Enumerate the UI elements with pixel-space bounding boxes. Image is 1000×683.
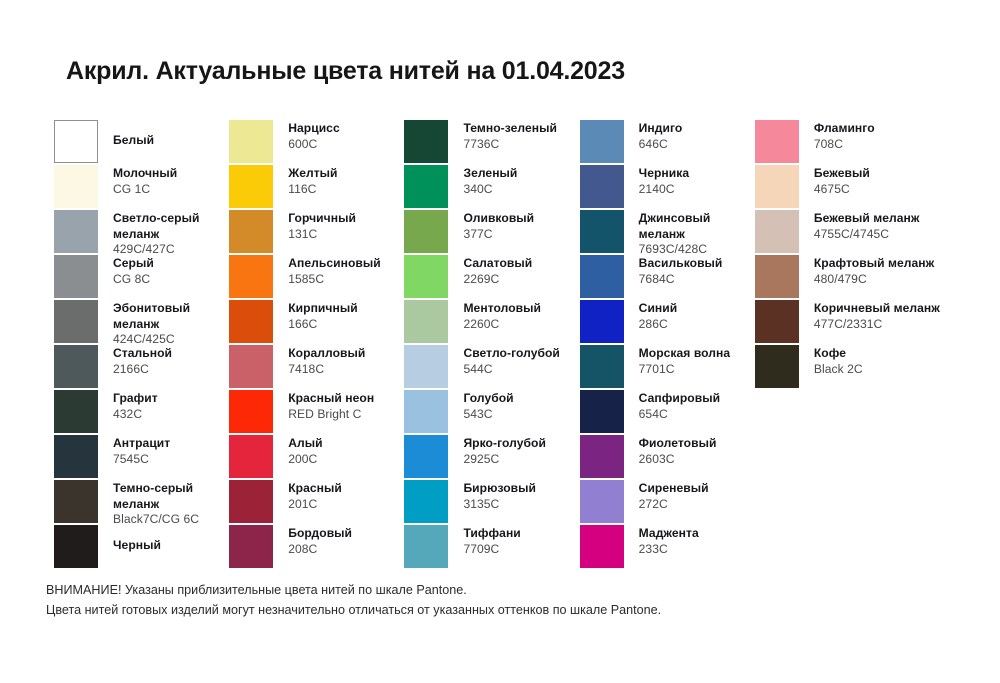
color-name: Бордовый (288, 526, 404, 542)
pantone-code: 1585C (288, 272, 404, 288)
swatch-labels: Белый (113, 120, 229, 149)
swatch-labels: Голубой543C (463, 390, 579, 422)
color-swatch[interactable] (755, 210, 799, 253)
color-name: Бежевый (814, 166, 954, 182)
color-name: Морская волна (639, 346, 755, 362)
swatch-row[interactable]: Антрацит7545C (54, 435, 229, 480)
swatch-labels: Апельсиновый1585C (288, 255, 404, 287)
swatch-row[interactable]: Бордовый208C (229, 525, 404, 570)
pantone-code: 7545C (113, 452, 229, 468)
color-name: Светло-серый меланж (113, 211, 229, 242)
swatch-labels: Фламинго708C (814, 120, 954, 152)
color-name: Светло-голубой (463, 346, 579, 362)
swatch-row[interactable]: Васильковый7684C (580, 255, 755, 300)
color-name: Серый (113, 256, 229, 272)
color-swatch[interactable] (580, 300, 624, 343)
swatch-labels: Оливковый377C (463, 210, 579, 242)
pantone-code: 200C (288, 452, 404, 468)
column-warm: Нарцисс600CЖелтый116CГорчичный131CАпельс… (229, 120, 404, 570)
swatch-row[interactable]: Желтый116C (229, 165, 404, 210)
swatch-labels: МолочныйCG 1C (113, 165, 229, 197)
swatch-row[interactable]: Черника2140C (580, 165, 755, 210)
color-swatch[interactable] (404, 255, 448, 298)
swatch-row[interactable]: СерыйCG 8C (54, 255, 229, 300)
color-swatch[interactable] (54, 525, 98, 568)
color-name: Красный (288, 481, 404, 497)
color-swatch[interactable] (404, 165, 448, 208)
swatch-labels: КофеBlack 2C (814, 345, 954, 377)
footer-line-1: ВНИМАНИЕ! Указаны приблизительные цвета … (46, 580, 661, 600)
swatch-labels: Алый200C (288, 435, 404, 467)
pantone-code: 201C (288, 497, 404, 513)
pantone-code: 7709C (463, 542, 579, 558)
color-swatch[interactable] (580, 255, 624, 298)
column-blues-purples: Индиго646CЧерника2140CДжинсовый меланж76… (580, 120, 755, 570)
swatch-row[interactable]: Бирюзовый3135C (404, 480, 579, 525)
swatch-row[interactable]: Ментоловый2260C (404, 300, 579, 345)
color-name: Нарцисс (288, 121, 404, 137)
swatch-labels: Кирпичный166C (288, 300, 404, 332)
swatch-row[interactable]: Оливковый377C (404, 210, 579, 255)
color-swatch[interactable] (54, 255, 98, 298)
swatch-labels: Индиго646C (639, 120, 755, 152)
swatch-labels: Ментоловый2260C (463, 300, 579, 332)
color-name: Темно-серый меланж (113, 481, 229, 512)
swatch-labels: Коралловый7418C (288, 345, 404, 377)
pantone-code: 2166C (113, 362, 229, 378)
pantone-code: 2140C (639, 182, 755, 198)
pantone-code: 208C (288, 542, 404, 558)
swatch-row[interactable]: Алый200C (229, 435, 404, 480)
color-swatch[interactable] (54, 390, 98, 433)
color-swatch[interactable] (229, 300, 273, 343)
swatch-labels: Черный (113, 525, 229, 554)
pantone-code: 377C (463, 227, 579, 243)
swatch-row[interactable]: МолочныйCG 1C (54, 165, 229, 210)
swatch-labels: Графит432C (113, 390, 229, 422)
swatch-row[interactable]: Индиго646C (580, 120, 755, 165)
pantone-code: 3135C (463, 497, 579, 513)
color-name: Апельсиновый (288, 256, 404, 272)
footer-note: ВНИМАНИЕ! Указаны приблизительные цвета … (46, 580, 661, 620)
color-swatch[interactable] (580, 390, 624, 433)
color-swatch[interactable] (229, 345, 273, 388)
color-name: Антрацит (113, 436, 229, 452)
color-name: Эбонитовый меланж (113, 301, 229, 332)
color-name: Горчичный (288, 211, 404, 227)
swatch-labels: Стальной2166C (113, 345, 229, 377)
pantone-code: 272C (639, 497, 755, 513)
swatch-labels: Бирюзовый3135C (463, 480, 579, 512)
swatch-labels: Васильковый7684C (639, 255, 755, 287)
color-name: Коралловый (288, 346, 404, 362)
color-name: Крафтовый меланж (814, 256, 954, 272)
swatch-row[interactable]: Морская волна7701C (580, 345, 755, 390)
color-swatch[interactable] (54, 210, 98, 253)
color-name: Салатовый (463, 256, 579, 272)
pantone-code: 233C (639, 542, 755, 558)
color-swatch[interactable] (404, 480, 448, 523)
pantone-code: RED Bright C (288, 407, 404, 423)
pantone-code: 2925C (463, 452, 579, 468)
color-swatch[interactable] (580, 165, 624, 208)
pantone-code: 543C (463, 407, 579, 423)
swatch-labels: Темно-зеленый7736C (463, 120, 579, 152)
swatch-labels: Бежевый меланж4755C/4745C (814, 210, 954, 242)
swatch-row[interactable]: Кирпичный166C (229, 300, 404, 345)
color-swatch[interactable] (755, 165, 799, 208)
swatch-row[interactable]: КофеBlack 2C (755, 345, 954, 390)
color-name: Васильковый (639, 256, 755, 272)
color-name: Красный неон (288, 391, 404, 407)
swatch-labels: Антрацит7545C (113, 435, 229, 467)
swatch-labels: Эбонитовый меланж424C/425C (113, 300, 229, 348)
pantone-code: 116C (288, 182, 404, 198)
swatch-labels: Ярко-голубой2925C (463, 435, 579, 467)
swatch-row[interactable]: Белый (54, 120, 229, 165)
column-greens-blues: Темно-зеленый7736CЗеленый340CОливковый37… (404, 120, 579, 570)
color-swatch[interactable] (404, 120, 448, 163)
color-swatch[interactable] (580, 480, 624, 523)
color-name: Маджента (639, 526, 755, 542)
swatch-row[interactable]: Горчичный131C (229, 210, 404, 255)
swatch-labels: Бежевый4675C (814, 165, 954, 197)
pantone-code: 7684C (639, 272, 755, 288)
swatch-labels: Красный201C (288, 480, 404, 512)
color-name: Черника (639, 166, 755, 182)
color-swatch[interactable] (229, 210, 273, 253)
color-name: Белый (113, 121, 229, 149)
swatch-row[interactable]: Фламинго708C (755, 120, 954, 165)
swatch-labels: Черника2140C (639, 165, 755, 197)
color-name: Джинсовый меланж (639, 211, 755, 242)
color-name: Кофе (814, 346, 954, 362)
color-swatch[interactable] (54, 435, 98, 478)
color-swatch[interactable] (229, 390, 273, 433)
color-name: Фламинго (814, 121, 954, 137)
pantone-code: 166C (288, 317, 404, 333)
pantone-code: 340C (463, 182, 579, 198)
swatch-row[interactable]: Салатовый2269C (404, 255, 579, 300)
color-swatch[interactable] (755, 345, 799, 388)
swatch-labels: Фиолетовый2603C (639, 435, 755, 467)
color-swatch[interactable] (54, 480, 98, 523)
swatch-row[interactable]: Сапфировый654C (580, 390, 755, 435)
swatch-labels: Тиффани7709C (463, 525, 579, 557)
color-swatch[interactable] (404, 390, 448, 433)
pantone-code: 7418C (288, 362, 404, 378)
swatch-labels: Нарцисс600C (288, 120, 404, 152)
swatch-row[interactable]: Маджента233C (580, 525, 755, 570)
swatch-labels: Светло-голубой544C (463, 345, 579, 377)
pantone-code: Black 2C (814, 362, 954, 378)
swatch-labels: Джинсовый меланж7693C/428C (639, 210, 755, 258)
pantone-code: 708C (814, 137, 954, 153)
swatch-row[interactable]: Темно-серый меланжBlack7C/CG 6C (54, 480, 229, 525)
color-swatch[interactable] (404, 525, 448, 568)
color-swatch[interactable] (580, 210, 624, 253)
color-name: Индиго (639, 121, 755, 137)
swatch-labels: Желтый116C (288, 165, 404, 197)
color-name: Желтый (288, 166, 404, 182)
swatch-row[interactable]: Светло-серый меланж429C/427C (54, 210, 229, 255)
swatch-row[interactable]: Нарцисс600C (229, 120, 404, 165)
pantone-code: 480/479C (814, 272, 954, 288)
swatch-labels: Бордовый208C (288, 525, 404, 557)
pantone-code: 544C (463, 362, 579, 378)
swatch-row[interactable]: Коралловый7418C (229, 345, 404, 390)
color-swatch[interactable] (54, 120, 98, 163)
color-swatch[interactable] (229, 120, 273, 163)
pantone-code: 7736C (463, 137, 579, 153)
color-name: Коричневый меланж (814, 301, 954, 317)
color-name: Кирпичный (288, 301, 404, 317)
swatch-labels: Маджента233C (639, 525, 755, 557)
page-title: Акрил. Актуальные цвета нитей на 01.04.2… (66, 57, 625, 86)
pantone-code: 477C/2331C (814, 317, 954, 333)
swatch-labels: Салатовый2269C (463, 255, 579, 287)
pantone-code: 131C (288, 227, 404, 243)
swatch-row[interactable]: Черный (54, 525, 229, 570)
color-name: Сапфировый (639, 391, 755, 407)
color-swatch[interactable] (404, 435, 448, 478)
swatch-labels: Светло-серый меланж429C/427C (113, 210, 229, 258)
color-swatch[interactable] (580, 345, 624, 388)
color-name: Бежевый меланж (814, 211, 954, 227)
color-name: Молочный (113, 166, 229, 182)
color-name: Синий (639, 301, 755, 317)
swatch-row[interactable]: Бежевый меланж4755C/4745C (755, 210, 954, 255)
swatch-labels: Синий286C (639, 300, 755, 332)
color-swatch[interactable] (54, 165, 98, 208)
pantone-code: 4675C (814, 182, 954, 198)
swatch-labels: Морская волна7701C (639, 345, 755, 377)
color-name: Зеленый (463, 166, 579, 182)
color-swatch[interactable] (229, 165, 273, 208)
color-name: Ярко-голубой (463, 436, 579, 452)
swatch-labels: Сиреневый272C (639, 480, 755, 512)
swatch-row[interactable]: Бежевый4675C (755, 165, 954, 210)
column-neutrals: БелыйМолочныйCG 1CСветло-серый меланж429… (54, 120, 229, 570)
color-name: Голубой (463, 391, 579, 407)
pantone-code: CG 8C (113, 272, 229, 288)
swatch-row[interactable]: Крафтовый меланж480/479C (755, 255, 954, 300)
swatch-row[interactable]: Коричневый меланж477C/2331C (755, 300, 954, 345)
color-swatch[interactable] (229, 435, 273, 478)
swatch-row[interactable]: Апельсиновый1585C (229, 255, 404, 300)
swatch-labels: Крафтовый меланж480/479C (814, 255, 954, 287)
color-swatch[interactable] (229, 255, 273, 298)
pantone-code: 7701C (639, 362, 755, 378)
color-name: Сиреневый (639, 481, 755, 497)
swatch-row[interactable]: Синий286C (580, 300, 755, 345)
pantone-code: 286C (639, 317, 755, 333)
color-name: Алый (288, 436, 404, 452)
swatch-row[interactable]: Стальной2166C (54, 345, 229, 390)
color-name: Черный (113, 526, 229, 554)
color-swatch[interactable] (755, 300, 799, 343)
color-swatch[interactable] (54, 300, 98, 343)
color-name: Оливковый (463, 211, 579, 227)
swatch-labels: Коричневый меланж477C/2331C (814, 300, 954, 332)
color-name: Темно-зеленый (463, 121, 579, 137)
pantone-code: 2603C (639, 452, 755, 468)
color-chart-page: Акрил. Актуальные цвета нитей на 01.04.2… (0, 0, 1000, 683)
color-swatch[interactable] (404, 345, 448, 388)
color-name: Бирюзовый (463, 481, 579, 497)
pantone-code: 2260C (463, 317, 579, 333)
color-swatch[interactable] (404, 300, 448, 343)
color-swatch-grid: БелыйМолочныйCG 1CСветло-серый меланж429… (54, 120, 954, 570)
swatch-row[interactable]: Тиффани7709C (404, 525, 579, 570)
swatch-labels: Сапфировый654C (639, 390, 755, 422)
swatch-row[interactable]: Голубой543C (404, 390, 579, 435)
swatch-row[interactable]: Темно-зеленый7736C (404, 120, 579, 165)
color-name: Ментоловый (463, 301, 579, 317)
pantone-code: 654C (639, 407, 755, 423)
pantone-code: 2269C (463, 272, 579, 288)
color-name: Графит (113, 391, 229, 407)
swatch-row[interactable]: Красный201C (229, 480, 404, 525)
swatch-row[interactable]: Фиолетовый2603C (580, 435, 755, 480)
color-name: Тиффани (463, 526, 579, 542)
swatch-row[interactable]: Джинсовый меланж7693C/428C (580, 210, 755, 255)
swatch-row[interactable]: Графит432C (54, 390, 229, 435)
swatch-row[interactable]: Эбонитовый меланж424C/425C (54, 300, 229, 345)
color-swatch[interactable] (580, 525, 624, 568)
color-swatch[interactable] (54, 345, 98, 388)
pantone-code: 4755C/4745C (814, 227, 954, 243)
swatch-row[interactable]: Зеленый340C (404, 165, 579, 210)
pantone-code: 432C (113, 407, 229, 423)
color-swatch[interactable] (580, 120, 624, 163)
swatch-row[interactable]: Красный неонRED Bright C (229, 390, 404, 435)
swatch-row[interactable]: Сиреневый272C (580, 480, 755, 525)
color-swatch[interactable] (755, 255, 799, 298)
footer-line-2: Цвета нитей готовых изделий могут незнач… (46, 600, 661, 620)
pantone-code: 600C (288, 137, 404, 153)
color-swatch[interactable] (229, 480, 273, 523)
swatch-row[interactable]: Светло-голубой544C (404, 345, 579, 390)
color-swatch[interactable] (404, 210, 448, 253)
color-name: Стальной (113, 346, 229, 362)
swatch-labels: Темно-серый меланжBlack7C/CG 6C (113, 480, 229, 528)
color-swatch[interactable] (755, 120, 799, 163)
swatch-labels: Красный неонRED Bright C (288, 390, 404, 422)
column-pinks-browns: Фламинго708CБежевый4675CБежевый меланж47… (755, 120, 954, 390)
color-swatch[interactable] (229, 525, 273, 568)
swatch-row[interactable]: Ярко-голубой2925C (404, 435, 579, 480)
pantone-code: CG 1C (113, 182, 229, 198)
color-swatch[interactable] (580, 435, 624, 478)
swatch-labels: Зеленый340C (463, 165, 579, 197)
color-name: Фиолетовый (639, 436, 755, 452)
pantone-code: 646C (639, 137, 755, 153)
swatch-labels: СерыйCG 8C (113, 255, 229, 287)
swatch-labels: Горчичный131C (288, 210, 404, 242)
